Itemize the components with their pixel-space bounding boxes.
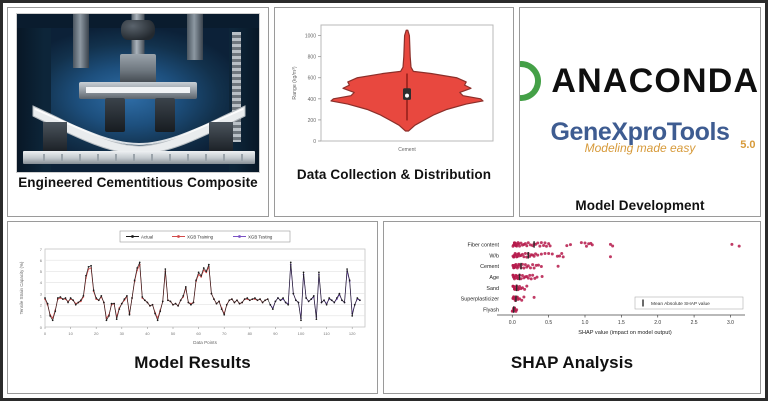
svg-text:600: 600	[308, 76, 317, 82]
svg-text:40: 40	[145, 331, 150, 336]
svg-text:XGB Training: XGB Training	[187, 234, 214, 239]
caption-ecc: Engineered Cementitious Composite	[12, 173, 264, 191]
svg-text:Sand: Sand	[486, 286, 499, 292]
caption-model-results: Model Results	[12, 352, 373, 373]
svg-text:50: 50	[170, 331, 175, 336]
svg-text:4: 4	[39, 280, 42, 285]
model-results-chart: 012345670102030405060708090100110120Data…	[15, 227, 371, 352]
anaconda-logo: ANACONDA .	[519, 61, 761, 101]
svg-text:W/b: W/b	[489, 253, 499, 259]
svg-text:0.0: 0.0	[509, 320, 516, 326]
svg-text:0.5: 0.5	[545, 320, 552, 326]
svg-text:SHAP value (impact on model ou: SHAP value (impact on model output)	[578, 330, 672, 336]
svg-text:Actual: Actual	[141, 234, 153, 239]
svg-text:70: 70	[221, 331, 226, 336]
top-row: Engineered Cementitious Composite 020040…	[7, 7, 761, 217]
svg-text:Fiber content: Fiber content	[468, 242, 500, 248]
svg-text:90: 90	[273, 331, 278, 336]
figure-container: Engineered Cementitious Composite 020040…	[0, 0, 768, 401]
svg-text:120: 120	[348, 331, 355, 336]
bottom-row: 012345670102030405060708090100110120Data…	[7, 221, 761, 394]
panel-model-development: ANACONDA . GeneXproTools 5.0 Modeling ma…	[519, 7, 761, 217]
svg-text:6: 6	[39, 258, 42, 263]
ecc-photo	[16, 13, 260, 173]
svg-text:Data Points: Data Points	[193, 340, 217, 345]
svg-text:200: 200	[308, 118, 317, 124]
svg-text:20: 20	[93, 331, 98, 336]
svg-text:3.0: 3.0	[727, 320, 734, 326]
svg-text:1.0: 1.0	[582, 320, 589, 326]
panel-grid: Engineered Cementitious Composite 020040…	[7, 7, 761, 394]
svg-text:XGB Testing: XGB Testing	[248, 234, 273, 239]
anaconda-circle-icon	[519, 61, 541, 101]
svg-text:1.5: 1.5	[618, 320, 625, 326]
caption-violin: Data Collection & Distribution	[279, 165, 509, 183]
svg-text:400: 400	[308, 97, 317, 103]
svg-text:Flyash: Flyash	[483, 308, 499, 314]
svg-text:1000: 1000	[305, 34, 316, 40]
caption-model-development: Model Development	[524, 196, 756, 214]
svg-text:10: 10	[68, 331, 73, 336]
panel-violin: 02004006008001000Range (kg/m³)Cement Dat…	[274, 7, 514, 217]
svg-text:0: 0	[43, 331, 46, 336]
violin-chart: 02004006008001000Range (kg/m³)Cement	[287, 13, 501, 165]
svg-text:1: 1	[39, 314, 42, 319]
svg-text:2.5: 2.5	[691, 320, 698, 326]
svg-text:110: 110	[323, 331, 330, 336]
svg-text:5: 5	[39, 269, 42, 274]
genexprotools-version: 5.0	[740, 139, 755, 151]
panel-model-results: 012345670102030405060708090100110120Data…	[7, 221, 378, 394]
anaconda-wordmark: ANACONDA	[551, 64, 759, 98]
svg-text:7: 7	[39, 247, 42, 252]
svg-text:80: 80	[247, 331, 252, 336]
svg-text:Mean Absolute SHAP value: Mean Absolute SHAP value	[651, 301, 710, 307]
panel-ecc: Engineered Cementitious Composite	[7, 7, 269, 217]
shap-chart: 0.00.51.01.52.02.53.0SHAP value (impact …	[387, 227, 757, 352]
svg-text:Range (kg/m³): Range (kg/m³)	[292, 66, 298, 99]
svg-text:60: 60	[196, 331, 201, 336]
genexprotools-logo: GeneXproTools 5.0 Modeling made easy	[550, 119, 729, 155]
svg-text:3: 3	[39, 291, 42, 296]
panel-shap-analysis: 0.00.51.01.52.02.53.0SHAP value (impact …	[383, 221, 761, 394]
svg-text:0: 0	[39, 325, 42, 330]
svg-text:Superplasticizer: Superplasticizer	[461, 297, 500, 303]
caption-shap-analysis: SHAP Analysis	[388, 352, 756, 373]
svg-text:Tensile Strain Capacity (%): Tensile Strain Capacity (%)	[19, 261, 24, 314]
svg-text:2: 2	[39, 303, 42, 308]
svg-text:Cement: Cement	[398, 147, 416, 153]
svg-text:800: 800	[308, 55, 317, 61]
svg-text:30: 30	[119, 331, 124, 336]
svg-text:Cement: Cement	[480, 264, 499, 270]
svg-text:100: 100	[297, 331, 304, 336]
svg-text:2.0: 2.0	[654, 320, 661, 326]
svg-text:0: 0	[313, 139, 316, 145]
svg-text:Age: Age	[489, 275, 499, 281]
